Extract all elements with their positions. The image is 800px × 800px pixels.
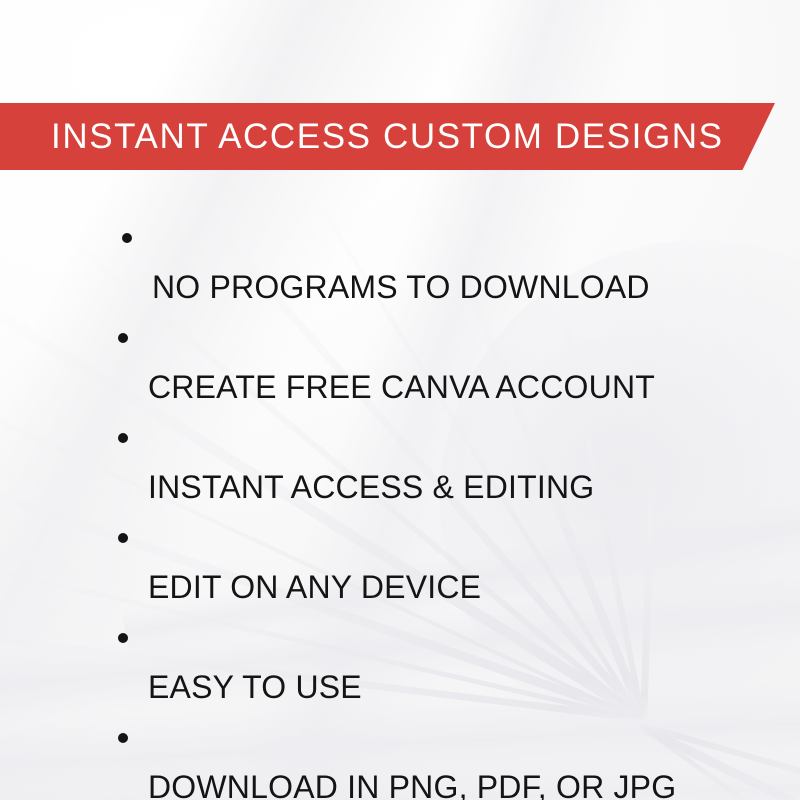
list-item: INSTANT ACCESS & EDITING: [112, 412, 712, 512]
banner-title: INSTANT ACCESS CUSTOM DESIGNS: [51, 119, 724, 154]
feature-label: EDIT ON ANY DEVICE: [148, 569, 481, 605]
feature-label: DOWNLOAD IN PNG, PDF, OR JPG FORMAT: [148, 769, 676, 800]
list-item: EASY TO USE: [112, 612, 712, 712]
list-item: EDIT ON ANY DEVICE: [112, 512, 712, 612]
feature-list: NO PROGRAMS TO DOWNLOAD CREATE FREE CANV…: [112, 212, 712, 800]
list-item: CREATE FREE CANVA ACCOUNT: [112, 312, 712, 412]
feature-label: EASY TO USE: [148, 669, 362, 705]
feature-label: INSTANT ACCESS & EDITING: [148, 469, 594, 505]
list-item: NO PROGRAMS TO DOWNLOAD: [112, 212, 712, 312]
header-banner: INSTANT ACCESS CUSTOM DESIGNS: [0, 103, 775, 170]
promo-graphic: INSTANT ACCESS CUSTOM DESIGNS NO PROGRAM…: [0, 0, 800, 800]
feature-label: CREATE FREE CANVA ACCOUNT: [148, 369, 655, 405]
feature-label: NO PROGRAMS TO DOWNLOAD: [152, 269, 650, 305]
list-item: DOWNLOAD IN PNG, PDF, OR JPG FORMAT: [112, 712, 712, 800]
